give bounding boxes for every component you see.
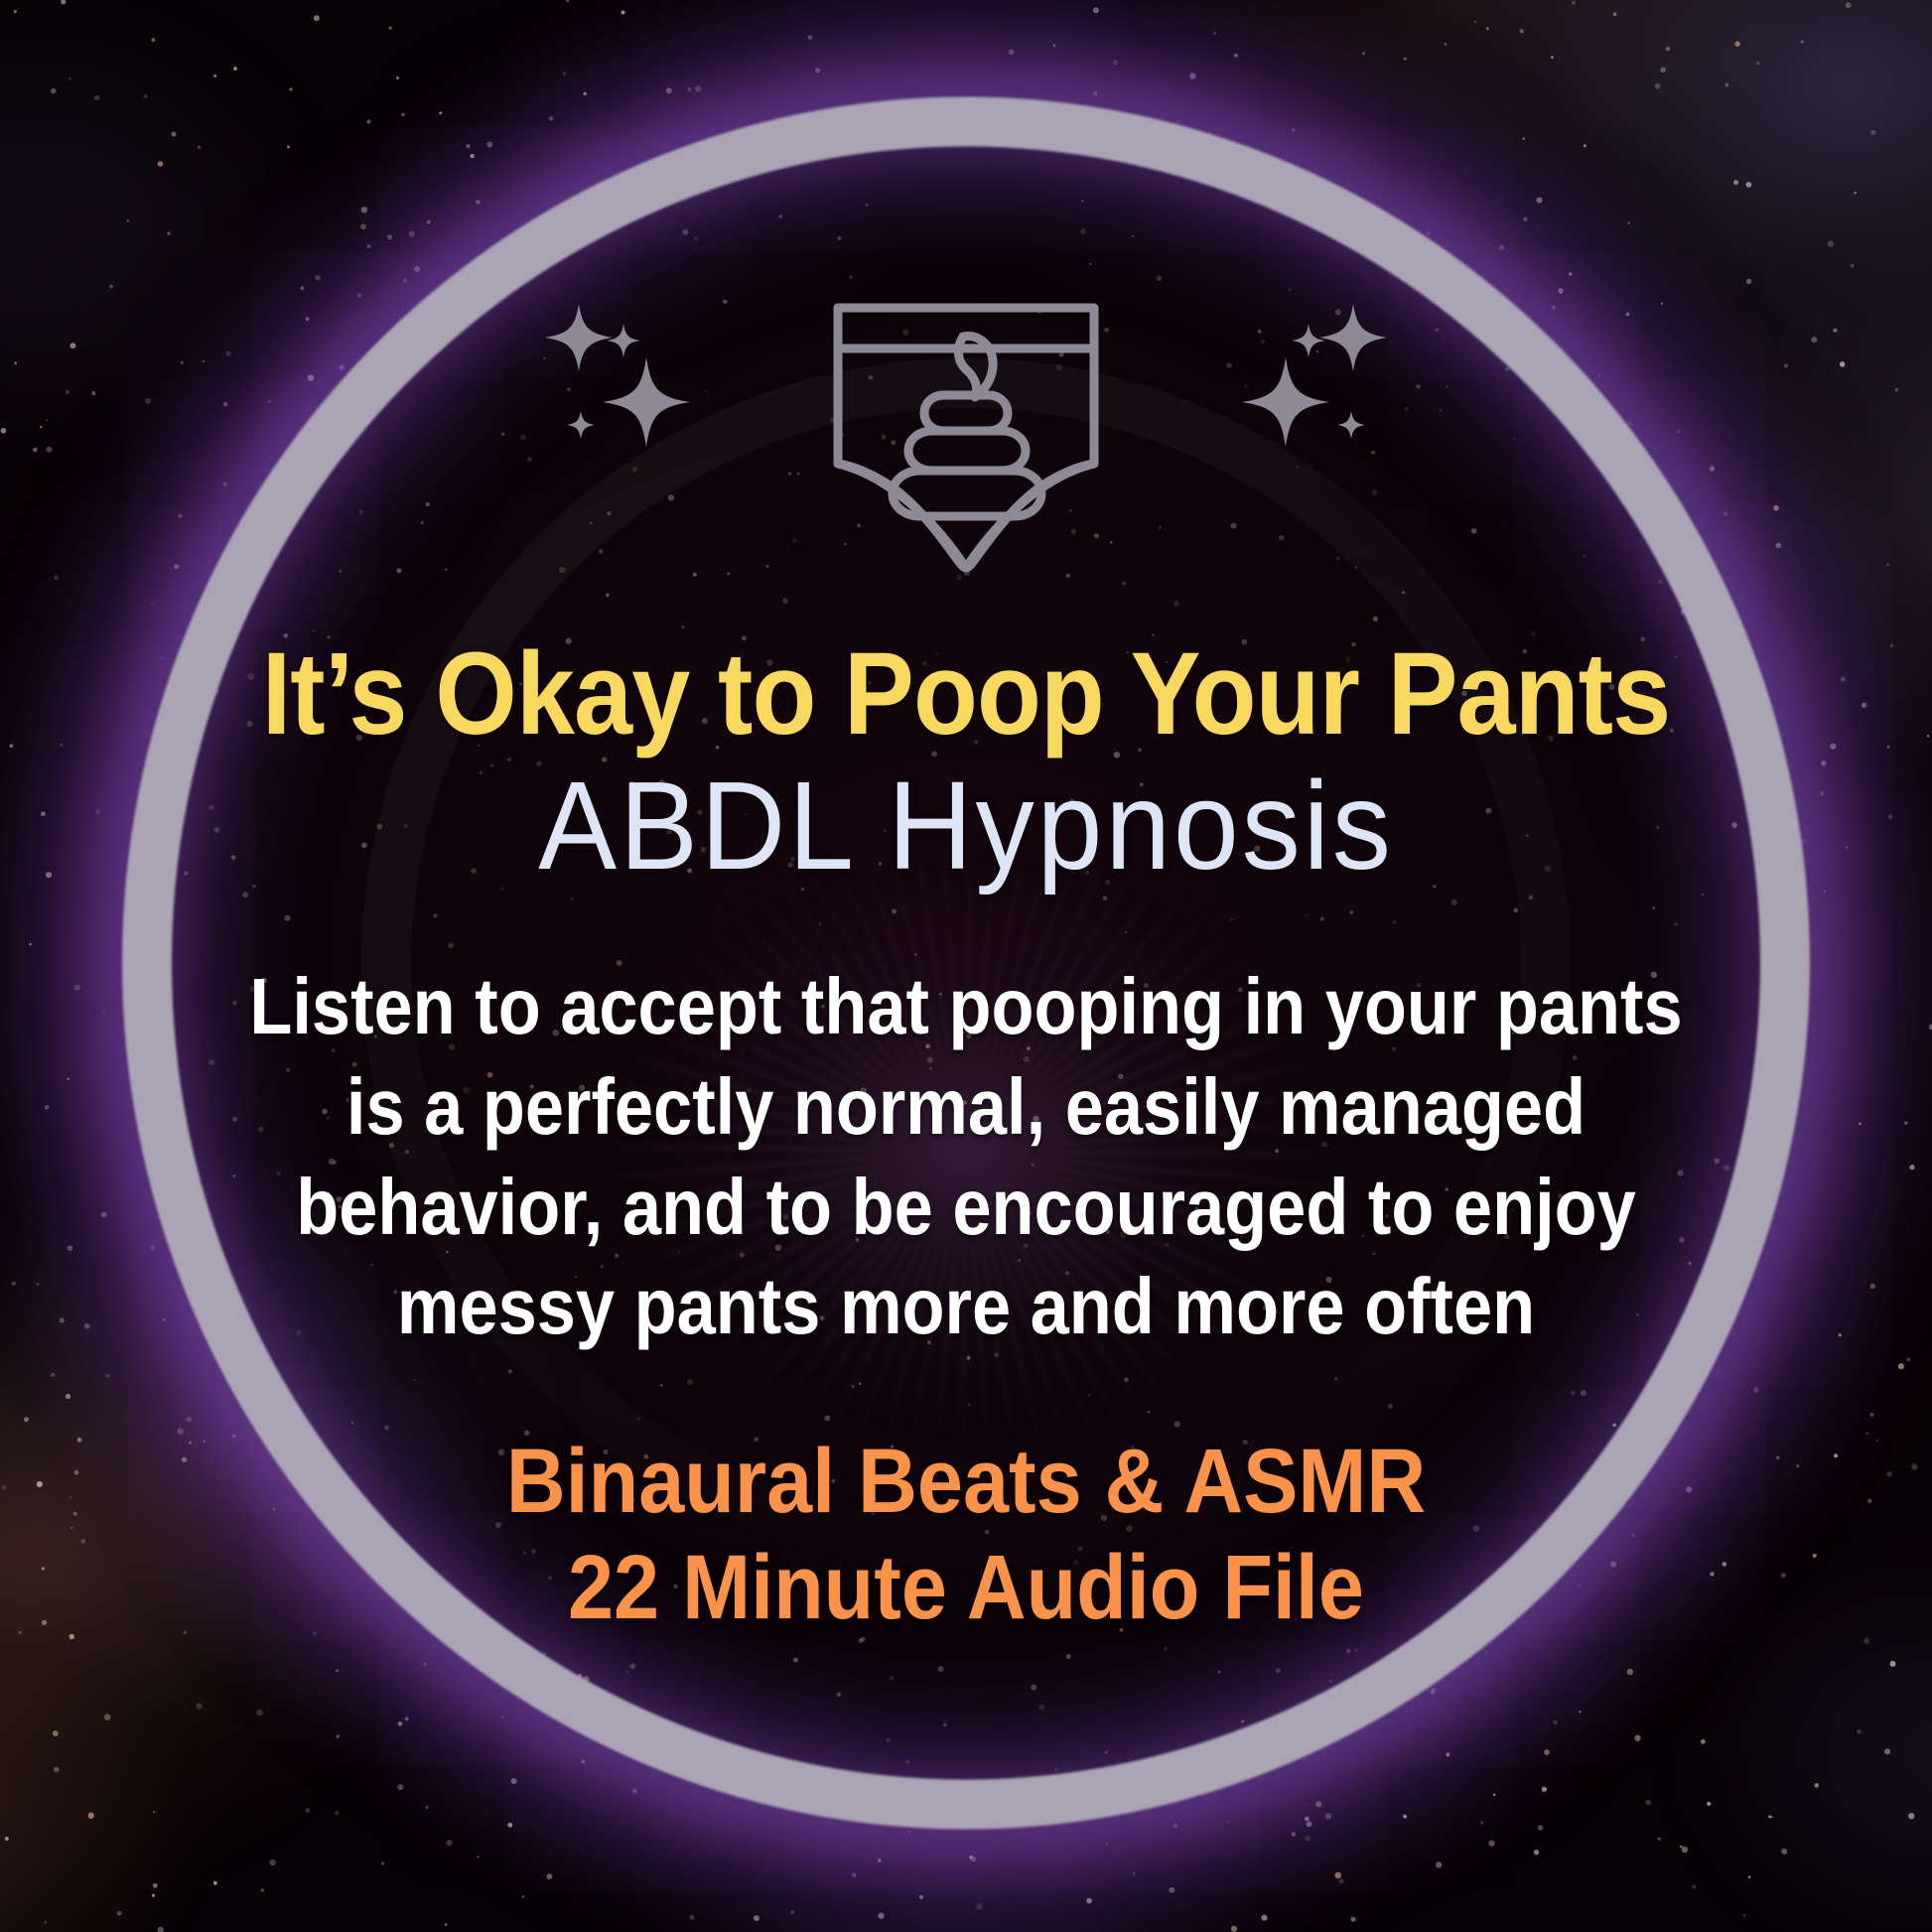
page-subtitle: ABDL Hypnosis	[142, 759, 1790, 894]
poster-canvas: It’s Okay to Poop Your Pants ABDL Hypnos…	[0, 0, 1932, 1932]
poster-content: It’s Okay to Poop Your Pants ABDL Hypnos…	[0, 0, 1932, 1932]
description-line: Listen to accept that pooping in your pa…	[195, 957, 1737, 1057]
footer-line: 22 Minute Audio File	[177, 1535, 1754, 1641]
footer-line: Binaural Beats & ASMR	[177, 1429, 1754, 1535]
text-block: It’s Okay to Poop Your Pants ABDL Hypnos…	[0, 635, 1932, 1641]
underwear-with-poop-icon	[838, 308, 1094, 568]
page-title: It’s Okay to Poop Your Pants	[177, 635, 1754, 753]
description-line: is a perfectly normal, easily managed	[195, 1057, 1737, 1158]
sparkle-cluster-left-icon	[545, 304, 690, 447]
description-line: behavior, and to be encouraged to enjoy	[195, 1158, 1737, 1258]
poop-swirl-icon	[893, 337, 1041, 516]
sparkle-cluster-right-icon	[1242, 304, 1387, 447]
description-line: messy pants more and more often	[195, 1257, 1737, 1357]
description-text: Listen to accept that pooping in your pa…	[195, 957, 1737, 1357]
icon-row	[519, 270, 1413, 568]
footer-text: Binaural Beats & ASMR 22 Minute Audio Fi…	[177, 1429, 1754, 1640]
